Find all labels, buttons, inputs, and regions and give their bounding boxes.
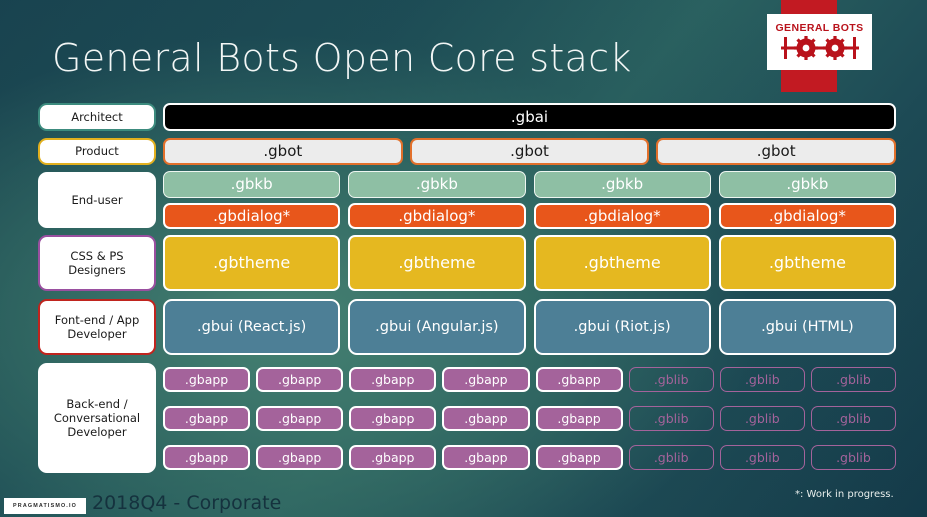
block-gbai[interactable]: .gbai [163, 103, 896, 131]
role-label-end-user: End-user [38, 172, 156, 228]
block-gbapp[interactable]: .gbapp [256, 445, 343, 470]
block-gbtheme[interactable]: .gbtheme [163, 235, 340, 291]
block-gbapp[interactable]: .gbapp [536, 406, 623, 431]
general-bots-logo: GENERAL BOTS [767, 14, 872, 70]
block-gbdialog[interactable]: .gbdialog* [348, 203, 525, 229]
block-gbapp[interactable]: .gbapp [163, 406, 250, 431]
block-gbapp[interactable]: .gbapp [163, 445, 250, 470]
block-gblib[interactable]: .gblib [629, 367, 714, 392]
row-gbai: .gbai [163, 103, 896, 131]
row-gbkb: .gbkb .gbkb .gbkb .gbkb [163, 171, 896, 198]
block-gbapp[interactable]: .gbapp [536, 367, 623, 392]
page-title: General Bots Open Core stack [52, 36, 632, 80]
block-gbapp[interactable]: .gbapp [349, 445, 436, 470]
block-gbdialog[interactable]: .gbdialog* [163, 203, 340, 229]
block-gbui-react[interactable]: .gbui (React.js) [163, 299, 340, 355]
block-gbkb[interactable]: .gbkb [348, 171, 525, 198]
block-gblib[interactable]: .gblib [811, 445, 896, 470]
block-gbapp[interactable]: .gbapp [349, 367, 436, 392]
block-gbui-html[interactable]: .gbui (HTML) [719, 299, 896, 355]
block-gbapp[interactable]: .gbapp [442, 406, 529, 431]
block-gbkb[interactable]: .gbkb [163, 171, 340, 198]
row-gbui: .gbui (React.js) .gbui (Angular.js) .gbu… [163, 299, 896, 355]
slide-canvas: GENERAL BOTS [0, 0, 927, 517]
block-gblib[interactable]: .gblib [811, 406, 896, 431]
block-gbapp[interactable]: .gbapp [256, 367, 343, 392]
block-gbtheme[interactable]: .gbtheme [534, 235, 711, 291]
block-gbot[interactable]: .gbot [656, 138, 896, 165]
block-gbui-riot[interactable]: .gbui (Riot.js) [534, 299, 711, 355]
block-gbtheme[interactable]: .gbtheme [719, 235, 896, 291]
block-gbtheme[interactable]: .gbtheme [348, 235, 525, 291]
block-gbkb[interactable]: .gbkb [534, 171, 711, 198]
row-backend-3: .gbapp .gbapp .gbapp .gbapp .gbapp .gbli… [163, 445, 896, 470]
role-label-backend-conversational-developer: Back-end /ConversationalDeveloper [38, 363, 156, 473]
role-label-architect: Architect [38, 103, 156, 131]
block-gblib[interactable]: .gblib [629, 406, 714, 431]
block-gblib[interactable]: .gblib [629, 445, 714, 470]
block-gbot[interactable]: .gbot [410, 138, 650, 165]
pragmatismo-logo-text: PRAGMATISMO.IO [13, 503, 77, 509]
two-gears-icon [781, 35, 859, 61]
role-label-frontend-app-developer: Font-end / AppDeveloper [38, 299, 156, 355]
block-gblib[interactable]: .gblib [720, 367, 805, 392]
block-gbapp[interactable]: .gbapp [256, 406, 343, 431]
block-gbot[interactable]: .gbot [163, 138, 403, 165]
footnote-work-in-progress: *: Work in progress. [795, 489, 894, 500]
row-backend-1: .gbapp .gbapp .gbapp .gbapp .gbapp .gbli… [163, 367, 896, 392]
block-gbapp[interactable]: .gbapp [442, 367, 529, 392]
row-gbot: .gbot .gbot .gbot [163, 138, 896, 165]
block-gblib[interactable]: .gblib [720, 445, 805, 470]
block-gbui-angular[interactable]: .gbui (Angular.js) [348, 299, 525, 355]
block-gbapp[interactable]: .gbapp [163, 367, 250, 392]
row-gbdialog: .gbdialog* .gbdialog* .gbdialog* .gbdial… [163, 203, 896, 229]
block-gbapp[interactable]: .gbapp [442, 445, 529, 470]
role-label-css-ps-designers: CSS & PSDesigners [38, 235, 156, 291]
logo-title-text: GENERAL BOTS [775, 23, 863, 34]
block-gbkb[interactable]: .gbkb [719, 171, 896, 198]
block-gbapp[interactable]: .gbapp [536, 445, 623, 470]
row-gbtheme: .gbtheme .gbtheme .gbtheme .gbtheme [163, 235, 896, 291]
block-gbapp[interactable]: .gbapp [349, 406, 436, 431]
row-backend-2: .gbapp .gbapp .gbapp .gbapp .gbapp .gbli… [163, 406, 896, 431]
block-gbdialog[interactable]: .gbdialog* [534, 203, 711, 229]
block-gblib[interactable]: .gblib [720, 406, 805, 431]
block-gbdialog[interactable]: .gbdialog* [719, 203, 896, 229]
role-label-product: Product [38, 138, 156, 165]
block-gblib[interactable]: .gblib [811, 367, 896, 392]
footer-caption: 2018Q4 - Corporate [92, 492, 281, 514]
pragmatismo-logo: PRAGMATISMO.IO [4, 498, 86, 514]
